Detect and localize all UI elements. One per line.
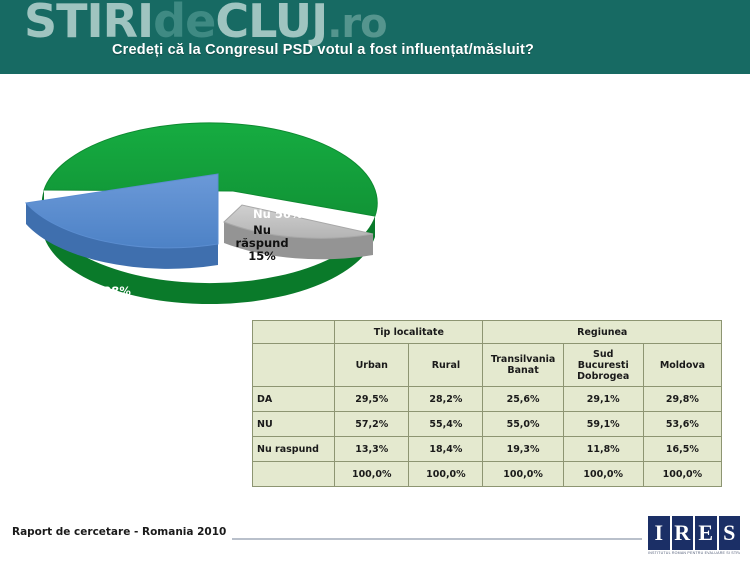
table-row-label-total	[253, 462, 335, 487]
pie-chart: Nu 56% Da 28% Nu răspund 15%	[0, 74, 470, 304]
cell-nu-urban: 57,2%	[335, 412, 409, 437]
ires-letter-e: E	[695, 516, 717, 550]
table-row-label-da: DA	[253, 387, 335, 412]
pie-label-nuraspund-line2: răspund	[235, 236, 288, 250]
cell-nu-rural: 55,4%	[409, 412, 483, 437]
table-subheader-rural: Rural	[409, 344, 483, 387]
page-title: Credeți că la Congresul PSD votul a fost…	[112, 42, 534, 58]
table-corner-cell	[253, 321, 335, 344]
cell-nuraspund-moldova: 16,5%	[643, 437, 721, 462]
table-subheader-moldova: Moldova	[643, 344, 721, 387]
cell-da-transilvania: 25,6%	[483, 387, 563, 412]
ires-logo-caption: INSTITUTUL ROMAN PENTRU EVALUARE SI STRA…	[648, 551, 740, 555]
pie-label-da: Da 28%	[82, 284, 131, 298]
cell-nuraspund-urban: 13,3%	[335, 437, 409, 462]
pie-label-nuraspund-line3: 15%	[248, 249, 276, 263]
footer-divider	[232, 538, 642, 540]
cell-total-sud: 100,0%	[563, 462, 643, 487]
subheader-sud-line3: Dobrogea	[577, 371, 629, 382]
table-row: DA 29,5% 28,2% 25,6% 29,1% 29,8%	[253, 387, 722, 412]
table-row: Nu raspund 13,3% 18,4% 19,3% 11,8% 16,5%	[253, 437, 722, 462]
table-sub-header-row: Urban Rural Transilvania Banat Sud Bucur…	[253, 344, 722, 387]
cell-total-moldova: 100,0%	[643, 462, 721, 487]
table-group-regiunea: Regiunea	[483, 321, 722, 344]
cell-nuraspund-sud: 11,8%	[563, 437, 643, 462]
cell-nuraspund-transilvania: 19,3%	[483, 437, 563, 462]
subheader-sud-line2: Bucuresti	[578, 360, 629, 371]
cell-nu-transilvania: 55,0%	[483, 412, 563, 437]
watermark-de: de	[153, 0, 215, 48]
subheader-transilvania-line1: Transilvania	[491, 354, 556, 365]
results-table-container: Tip localitate Regiunea Urban Rural Tran…	[252, 320, 722, 487]
footer-report-label: Raport de cercetare - Romania 2010	[12, 526, 226, 538]
table-group-header-row: Tip localitate Regiunea	[253, 321, 722, 344]
cell-total-transilvania: 100,0%	[483, 462, 563, 487]
table-group-tip-localitate: Tip localitate	[335, 321, 483, 344]
table-subheader-urban: Urban	[335, 344, 409, 387]
cell-total-rural: 100,0%	[409, 462, 483, 487]
header-band: STIRIdeCLUJ.ro Credeți că la Congresul P…	[0, 0, 750, 74]
subheader-sud-line1: Sud	[593, 349, 613, 360]
cell-nu-moldova: 53,6%	[643, 412, 721, 437]
cell-da-moldova: 29,8%	[643, 387, 721, 412]
watermark-ro: .ro	[327, 1, 386, 47]
ires-letter-s: S	[719, 516, 741, 550]
table-row-label-nuraspund: Nu raspund	[253, 437, 335, 462]
table-row-label-nu: NU	[253, 412, 335, 437]
watermark-cluj: CLUJ	[215, 0, 327, 48]
cell-da-rural: 28,2%	[409, 387, 483, 412]
pie-label-nuraspund-line1: Nu	[253, 223, 271, 237]
pie-chart-svg: Nu 56% Da 28% Nu răspund 15%	[0, 74, 470, 304]
table-row: 100,0% 100,0% 100,0% 100,0% 100,0%	[253, 462, 722, 487]
cell-da-sud: 29,1%	[563, 387, 643, 412]
table-subheader-blank	[253, 344, 335, 387]
subheader-transilvania-line2: Banat	[507, 365, 538, 376]
results-table: Tip localitate Regiunea Urban Rural Tran…	[252, 320, 722, 487]
cell-nu-sud: 59,1%	[563, 412, 643, 437]
cell-nuraspund-rural: 18,4%	[409, 437, 483, 462]
ires-letter-i: I	[648, 516, 670, 550]
table-row: NU 57,2% 55,4% 55,0% 59,1% 53,6%	[253, 412, 722, 437]
table-subheader-sud-bucuresti-dobrogea: Sud Bucuresti Dobrogea	[563, 344, 643, 387]
cell-total-urban: 100,0%	[335, 462, 409, 487]
cell-da-urban: 29,5%	[335, 387, 409, 412]
ires-logo: I R E S	[648, 516, 740, 554]
ires-letter-r: R	[672, 516, 694, 550]
watermark-stiri: STIRI	[24, 0, 153, 48]
pie-label-nu: Nu 56%	[253, 207, 303, 221]
table-subheader-transilvania-banat: Transilvania Banat	[483, 344, 563, 387]
